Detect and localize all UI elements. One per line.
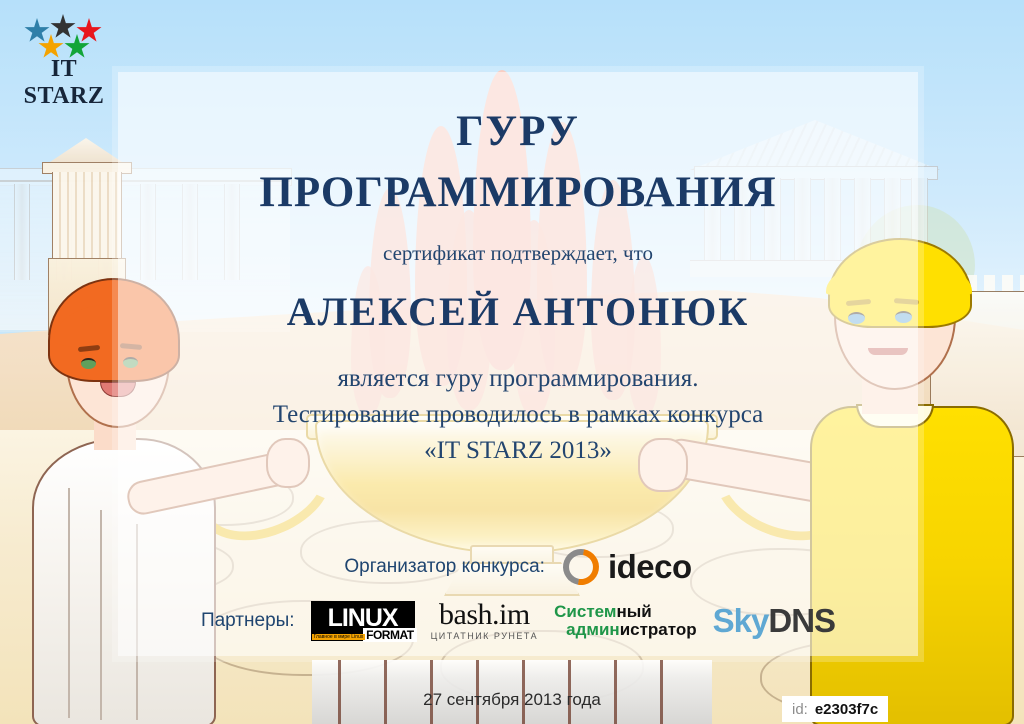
certificate-confirm-text: сертификат подтверждает, что xyxy=(118,241,918,266)
certificate-title-line2: ПРОГРАММИРОВАНИЯ xyxy=(118,168,918,217)
star-black-icon xyxy=(50,14,76,40)
bash-im-tagline: ЦИТАТНИК РУНЕТА xyxy=(431,632,539,641)
star-red-icon xyxy=(76,18,102,44)
ideco-logo[interactable]: ideco xyxy=(563,548,692,586)
sysadmin-logo[interactable]: Системный администратор xyxy=(554,603,697,638)
partners-label: Партнеры: xyxy=(201,610,295,632)
ideco-swirl-icon xyxy=(563,549,599,585)
skydns-sky: Sky xyxy=(713,602,769,639)
sysadmin-line2-black: истратор xyxy=(620,620,697,639)
skydns-logo[interactable]: SkyDNS xyxy=(713,602,835,640)
linux-format-badge: FORMAT xyxy=(363,628,416,642)
certificate-body-line1: является гуру программирования. xyxy=(118,361,918,397)
logo-wordmark: IT STARZ xyxy=(12,56,116,110)
bash-im-word: bash.im xyxy=(439,600,530,630)
certificate-text-block: ГУРУ ПРОГРАММИРОВАНИЯ сертификат подтвер… xyxy=(118,72,918,469)
skydns-dns: DNS xyxy=(768,602,835,639)
it-starz-logo: IT STARZ xyxy=(12,8,116,92)
certificate-title-line1: ГУРУ xyxy=(118,107,918,156)
certificate-body-line2: Тестирование проводилось в рамках конкур… xyxy=(118,397,918,433)
id-value: e2303f7c xyxy=(815,701,878,718)
sysadmin-line2-green: админ xyxy=(566,620,620,639)
id-label: id: xyxy=(792,701,808,718)
star-blue-icon xyxy=(24,18,50,44)
sysadmin-line1-black: ный xyxy=(616,602,651,621)
organizer-row: Организатор конкурса: ideco xyxy=(118,548,918,586)
linux-format-logo[interactable]: LINUX FORMAT Главное в мире Linux xyxy=(311,601,415,641)
linux-format-tagline: Главное в мире Linux xyxy=(312,634,366,640)
sysadmin-line1-green: Систем xyxy=(554,602,616,621)
ideco-wordmark: ideco xyxy=(608,548,692,586)
id-badge: id: e2303f7c xyxy=(782,696,888,722)
bash-im-logo[interactable]: bash.im ЦИТАТНИК РУНЕТА xyxy=(431,600,539,641)
certificate-canvas: IT STARZ ГУРУ ПРОГРАММИРОВАНИЯ сертифика… xyxy=(0,0,1024,724)
recipient-name: АЛЕКСЕЙ АНТОНЮК xyxy=(118,288,918,335)
organizer-label: Организатор конкурса: xyxy=(344,556,545,578)
partners-row: Партнеры: LINUX FORMAT Главное в мире Li… xyxy=(118,600,918,641)
certificate-body-line3: «IT STARZ 2013» xyxy=(118,433,918,469)
